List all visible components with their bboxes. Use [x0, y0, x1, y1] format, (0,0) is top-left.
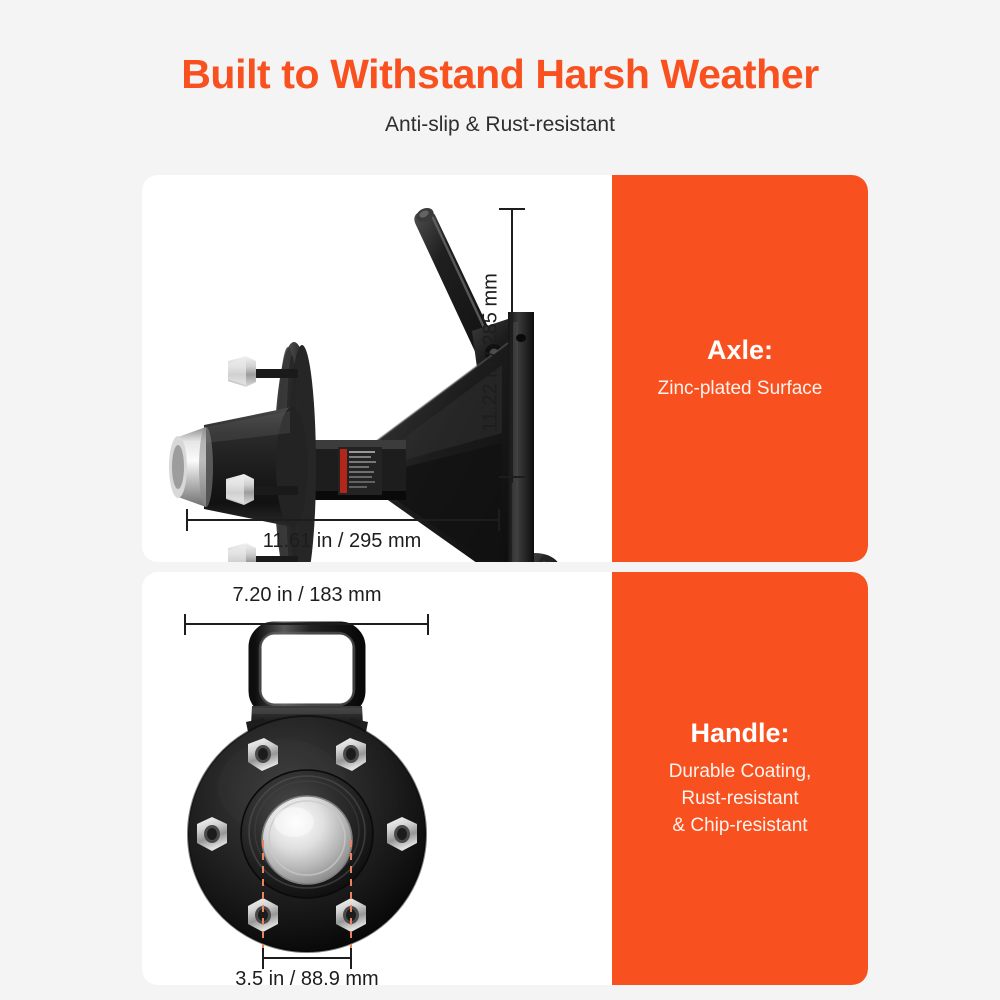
axle-square-tube	[314, 440, 406, 500]
handle-width-dimension-label: 7.20 in / 183 mm	[172, 584, 442, 607]
feature-card-axle: 11.22 in / 285 mm 11.61 in / 295 mm Axle…	[142, 175, 868, 562]
axle-spindle-cap	[169, 427, 213, 507]
axle-panel-line-1: Zinc-plated Surface	[658, 376, 823, 403]
feature-card-handle: 7.20 in / 183 mm 3.5 in / 88.9 mm Handle…	[142, 572, 868, 985]
axle-width-dimension-label: 11.61 in / 295 mm	[142, 530, 542, 553]
handle-front-view-illustration	[142, 572, 612, 985]
handle-panel-line-3: & Chip-resistant	[672, 813, 807, 840]
handle-info-panel: Handle: Durable Coating, Rust-resistant …	[612, 572, 868, 985]
axle-panel-heading: Axle:	[707, 334, 773, 366]
handle-panel-line-2: Rust-resistant	[681, 786, 798, 813]
bolt-circle-dimension-label: 3.5 in / 88.9 mm	[172, 968, 442, 985]
product-label-sticker	[338, 447, 382, 495]
axle-hub-drum	[204, 407, 308, 527]
handle-loop-grip	[255, 628, 359, 710]
axle-side-view-illustration	[142, 175, 612, 562]
page-subtitle: Anti-slip & Rust-resistant	[385, 113, 615, 137]
axle-height-dimension-label: 11.22 in / 285 mm	[480, 253, 503, 453]
handle-panel-line-1: Durable Coating,	[669, 759, 812, 786]
hub-dust-cap	[262, 796, 352, 884]
page-title: Built to Withstand Harsh Weather	[181, 52, 819, 97]
handle-figure: 7.20 in / 183 mm 3.5 in / 88.9 mm	[142, 572, 612, 985]
axle-mounting-plate	[508, 312, 563, 562]
handle-panel-heading: Handle:	[690, 717, 789, 749]
header: Built to Withstand Harsh Weather Anti-sl…	[0, 0, 1000, 175]
axle-figure: 11.22 in / 285 mm 11.61 in / 295 mm	[142, 175, 612, 562]
axle-info-panel: Axle: Zinc-plated Surface	[612, 175, 868, 562]
